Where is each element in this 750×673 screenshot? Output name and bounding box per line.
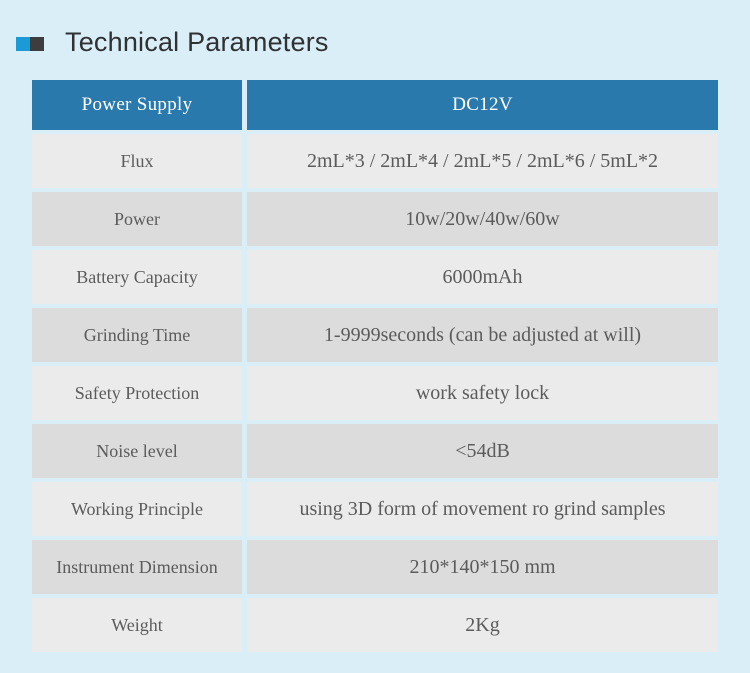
- row-value: 2mL*3 / 2mL*4 / 2mL*5 / 2mL*6 / 5mL*2: [247, 134, 718, 188]
- row-label: Power: [32, 192, 242, 246]
- table-row: Battery Capacity 6000mAh: [32, 250, 718, 304]
- technical-parameters-page: Technical Parameters Power Supply DC12V …: [0, 0, 750, 673]
- row-label: Battery Capacity: [32, 250, 242, 304]
- brand-square-blue-icon: [16, 37, 30, 51]
- row-value: 210*140*150 mm: [247, 540, 718, 594]
- row-label: Working Principle: [32, 482, 242, 536]
- table-row: Working Principle using 3D form of movem…: [32, 482, 718, 536]
- table-row: Flux 2mL*3 / 2mL*4 / 2mL*5 / 2mL*6 / 5mL…: [32, 134, 718, 188]
- page-title: Technical Parameters: [65, 29, 329, 56]
- row-value: <54dB: [247, 424, 718, 478]
- row-value: using 3D form of movement ro grind sampl…: [247, 482, 718, 536]
- table-row: Power 10w/20w/40w/60w: [32, 192, 718, 246]
- page-header: Technical Parameters: [16, 22, 329, 62]
- row-value: 10w/20w/40w/60w: [247, 192, 718, 246]
- row-value: 6000mAh: [247, 250, 718, 304]
- row-value: work safety lock: [247, 366, 718, 420]
- table-header-cell-power-supply: Power Supply: [32, 80, 242, 130]
- table-row: Weight 2Kg: [32, 598, 718, 652]
- technical-parameters-table: Power Supply DC12V Flux 2mL*3 / 2mL*4 / …: [32, 80, 718, 652]
- brand-squares-icon: [16, 37, 44, 51]
- brand-square-dark-icon: [30, 37, 44, 51]
- table-header-row: Power Supply DC12V: [32, 80, 718, 130]
- table-body: Power Supply DC12V Flux 2mL*3 / 2mL*4 / …: [32, 80, 718, 652]
- row-label: Flux: [32, 134, 242, 188]
- row-value: 1-9999seconds (can be adjusted at will): [247, 308, 718, 362]
- row-label: Noise level: [32, 424, 242, 478]
- table-row: Instrument Dimension 210*140*150 mm: [32, 540, 718, 594]
- row-value: 2Kg: [247, 598, 718, 652]
- row-label: Grinding Time: [32, 308, 242, 362]
- row-label: Instrument Dimension: [32, 540, 242, 594]
- table-row: Safety Protection work safety lock: [32, 366, 718, 420]
- row-label: Weight: [32, 598, 242, 652]
- row-label: Safety Protection: [32, 366, 242, 420]
- table-row: Noise level <54dB: [32, 424, 718, 478]
- table-row: Grinding Time 1-9999seconds (can be adju…: [32, 308, 718, 362]
- table-header-cell-dc12v: DC12V: [247, 80, 718, 130]
